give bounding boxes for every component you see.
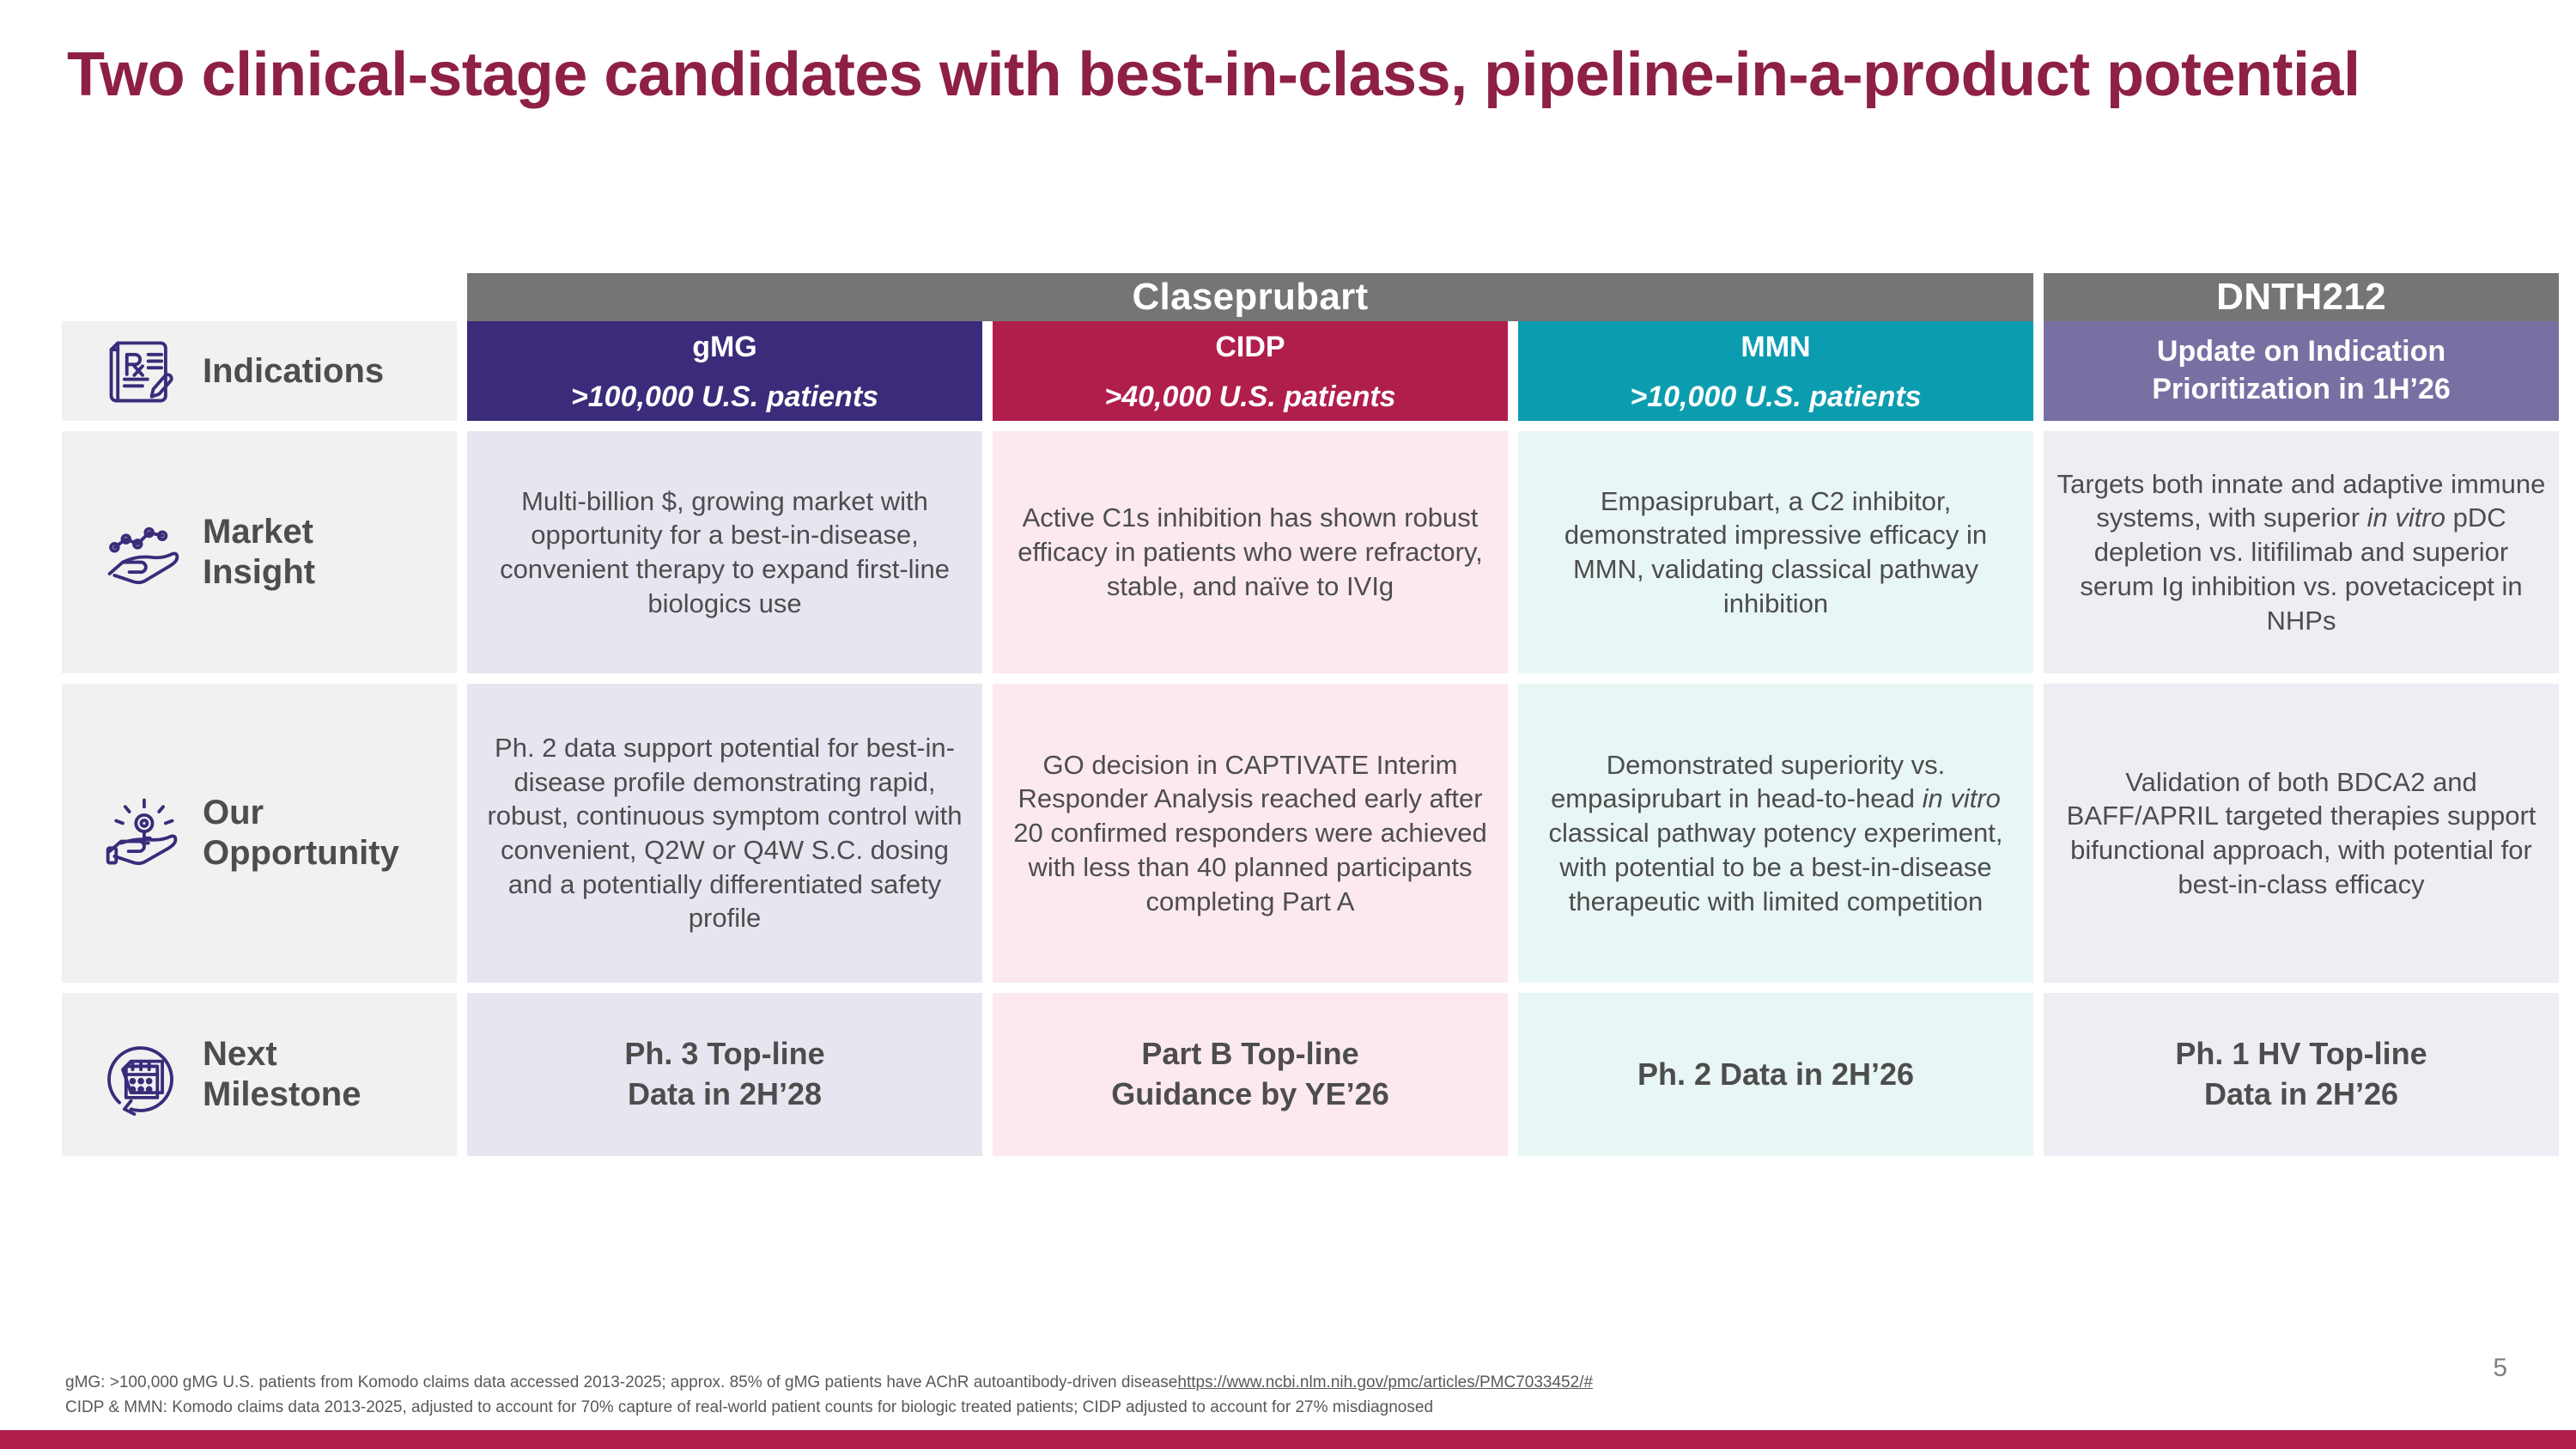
footnote-line-1: gMG: >100,000 gMG U.S. patients from Kom… xyxy=(65,1371,2298,1396)
indication-patients-cidp: >40,000 U.S. patients xyxy=(993,373,1508,421)
mi-dnth-italic: in vitro xyxy=(2367,502,2445,533)
brand-header-label: Claseprubart xyxy=(1132,276,1368,319)
market-insight-dnth212: Targets both innate and adaptive immune … xyxy=(2044,431,2559,673)
row-label-market-insight: Market Insight xyxy=(62,431,457,673)
next-milestone-gmg: Ph. 3 Top-line Data in 2H’28 xyxy=(467,993,982,1156)
bottom-accent-bar xyxy=(0,1430,2576,1449)
calendar-milestone-icon xyxy=(101,1033,184,1116)
footnote-source-link[interactable]: https://www.ncbi.nlm.nih.gov/pmc/article… xyxy=(1177,1373,1593,1391)
indication-name-cidp: CIDP xyxy=(993,321,1508,373)
prescription-icon xyxy=(101,330,184,412)
indication-patients-mmn: >10,000 U.S. patients xyxy=(1518,373,2033,421)
indication-name-label: MMN xyxy=(1741,331,1810,364)
market-insight-cidp: Active C1s inhibition has shown robust e… xyxy=(993,431,1508,673)
opportunity-key-icon xyxy=(101,792,184,874)
brand-header-dnth212: DNTH212 xyxy=(2044,273,2559,321)
next-milestone-mmn: Ph. 2 Data in 2H’26 xyxy=(1518,993,2033,1156)
row-label-text: Our Opportunity xyxy=(203,793,399,874)
indication-name-mmn: MMN xyxy=(1518,321,2033,373)
next-milestone-cidp: Part B Top-line Guidance by YE’26 xyxy=(993,993,1508,1156)
market-insight-icon xyxy=(101,511,184,594)
row-label-next-milestone: Next Milestone xyxy=(62,993,457,1156)
indication-patients-gmg: >100,000 U.S. patients xyxy=(467,373,982,421)
footnote-text: gMG: >100,000 gMG U.S. patients from Kom… xyxy=(65,1373,1177,1391)
row-label-text: Indications xyxy=(203,351,384,392)
market-insight-gmg: Multi-billion $, growing market with opp… xyxy=(467,431,982,673)
oo-mmn-part2: classical pathway potency experiment, wi… xyxy=(1549,818,2003,916)
indication-dnth212-update: Update on Indication Prioritization in 1… xyxy=(2044,321,2559,421)
next-milestone-dnth212: Ph. 1 HV Top-line Data in 2H’26 xyxy=(2044,993,2559,1156)
oo-mmn-italic: in vitro xyxy=(1923,783,2001,813)
indication-patients-label: >40,000 U.S. patients xyxy=(1104,381,1395,414)
page-number: 5 xyxy=(2493,1354,2507,1383)
indication-patients-label: >10,000 U.S. patients xyxy=(1630,381,1921,414)
page-title: Two clinical-stage candidates with best-… xyxy=(67,40,2471,112)
our-opportunity-gmg: Ph. 2 data support potential for best-in… xyxy=(467,684,982,983)
market-insight-mmn: Empasiprubart, a C2 inhibitor, demonstra… xyxy=(1518,431,2033,673)
oo-mmn-part1: Demonstrated superiority vs. empasipruba… xyxy=(1551,750,1945,814)
indication-name-label: CIDP xyxy=(1215,331,1285,364)
footnote-line-2: CIDP & MMN: Komodo claims data 2013-2025… xyxy=(65,1396,2298,1421)
row-label-text: Market Insight xyxy=(203,512,315,593)
indication-name-label: gMG xyxy=(692,331,757,364)
row-label-indications: Indications xyxy=(62,321,457,421)
indication-patients-label: >100,000 U.S. patients xyxy=(571,381,878,414)
our-opportunity-dnth212: Validation of both BDCA2 and BAFF/APRIL … xyxy=(2044,684,2559,983)
indication-name-gmg: gMG xyxy=(467,321,982,373)
our-opportunity-cidp: GO decision in CAPTIVATE Interim Respond… xyxy=(993,684,1508,983)
row-label-our-opportunity: Our Opportunity xyxy=(62,684,457,983)
brand-header-claseprubart: Claseprubart xyxy=(467,273,2033,321)
row-label-text: Next Milestone xyxy=(203,1034,361,1115)
our-opportunity-mmn: Demonstrated superiority vs. empasipruba… xyxy=(1518,684,2033,983)
footnotes: gMG: >100,000 gMG U.S. patients from Kom… xyxy=(65,1371,2298,1420)
comparison-matrix: Claseprubart DNTH212 Indications gMG CID… xyxy=(62,273,2528,1156)
brand-header-label: DNTH212 xyxy=(2216,276,2386,319)
